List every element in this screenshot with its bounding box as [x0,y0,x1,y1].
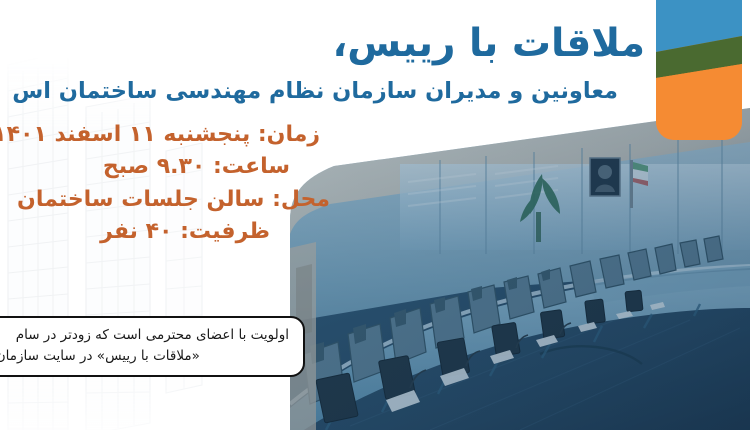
note-line-1: اولویت با اعضای محترمی است که زودتر در س… [0,325,289,346]
priority-note-box: اولویت با اعضای محترمی است که زودتر در س… [0,316,305,377]
detail-capacity: ظرفیت: ۴۰ نفر [0,216,740,249]
detail-location: محل: سالن جلسات ساختمان [0,184,740,217]
event-poster: ملاقات با رییس، معاونین و مدیران سازمان … [0,0,750,430]
detail-date: زمان: پنجشنبه ۱۱ اسفند ۱۴۰۱ [0,119,740,152]
poster-text-block: ملاقات با رییس، معاونین و مدیران سازمان … [0,0,750,249]
note-line-2: «ملاقات با رییس» در سایت سازمان اقدام کن [0,346,289,367]
poster-subtitle: معاونین و مدیران سازمان نظام مهندسی ساخت… [0,65,618,104]
page-title: ملاقات با رییس، [0,0,750,65]
event-details-list: زمان: پنجشنبه ۱۱ اسفند ۱۴۰۱ ساعت: ۹.۳۰ ص… [0,119,750,249]
detail-time: ساعت: ۹.۳۰ صبح [0,151,740,184]
